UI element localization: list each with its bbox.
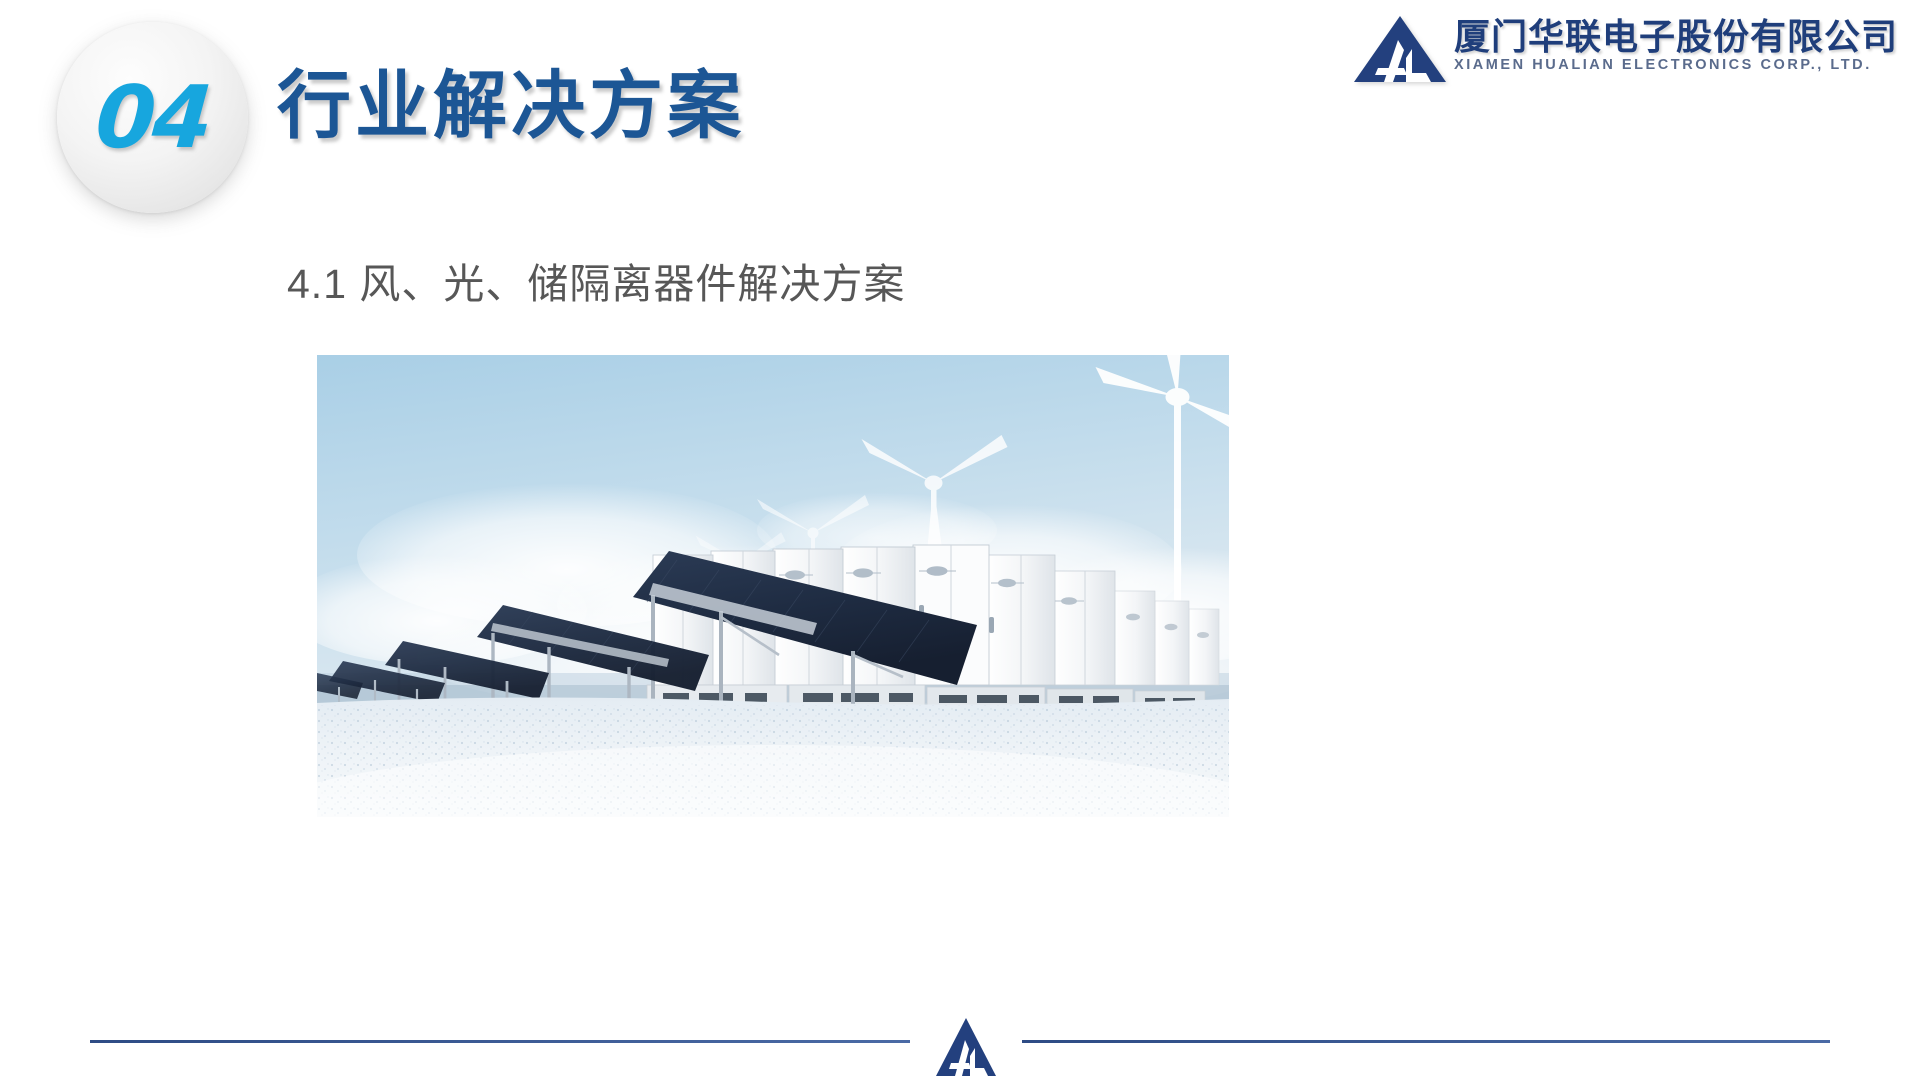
section-number-label: 04 <box>93 75 213 161</box>
renewable-energy-photo <box>317 355 1229 817</box>
company-logo-text: 厦门华联电子股份有限公司 XIAMEN HUALIAN ELECTRONICS … <box>1454 16 1898 74</box>
slide-footer <box>0 1018 1920 1080</box>
renewable-energy-illustration <box>317 355 1229 817</box>
hl-triangle-logo-icon <box>1354 16 1446 82</box>
hl-triangle-logo-icon <box>936 1018 996 1076</box>
page-title: 行业解决方案 <box>277 63 745 148</box>
company-name-cn: 厦门华联电子股份有限公司 <box>1454 18 1898 56</box>
section-subtitle: 4.1 风、光、储隔离器件解决方案 <box>287 250 905 310</box>
footer-rule-left <box>90 1040 910 1043</box>
company-name-en: XIAMEN HUALIAN ELECTRONICS CORP., LTD. <box>1454 58 1898 74</box>
section-number-badge: 04 <box>57 22 248 213</box>
company-logo: 厦门华联电子股份有限公司 XIAMEN HUALIAN ELECTRONICS … <box>1354 16 1898 82</box>
slide-canvas: 04 行业解决方案 厦门华联电子股份有限公司 XIAMEN HUALIAN EL… <box>0 0 1920 1080</box>
footer-rule-right <box>1022 1040 1830 1043</box>
